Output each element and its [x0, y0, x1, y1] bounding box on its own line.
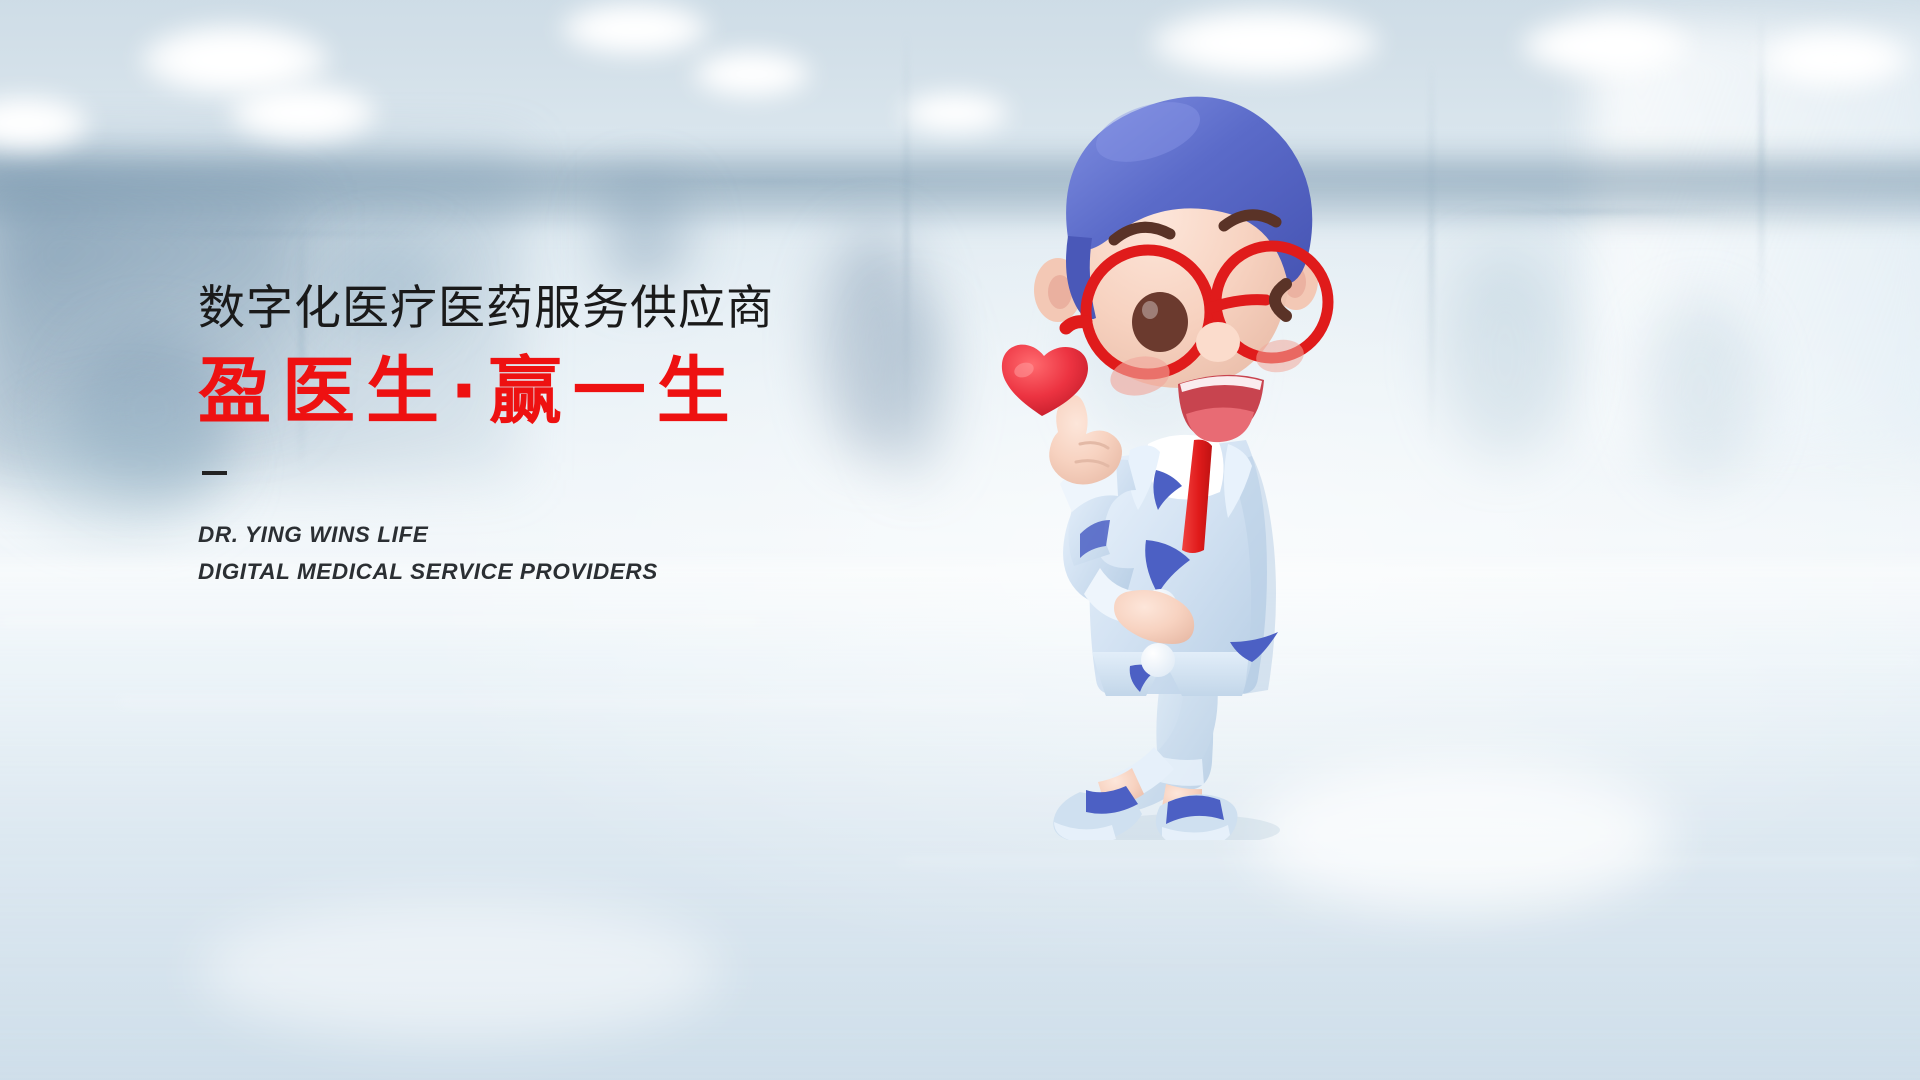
ceiling-light	[1520, 16, 1690, 76]
mascot-eye-open	[1132, 292, 1188, 352]
mascot-coat-button	[1141, 643, 1175, 677]
hero-banner: 数字化医疗医药服务供应商 盈医生·赢一生 DR. YING WINS LIFE …	[0, 0, 1920, 1080]
divider-rule	[202, 471, 227, 475]
mascot-eye-highlight	[1142, 301, 1158, 319]
window-rail	[60, 232, 440, 235]
window-rail	[1430, 210, 1730, 213]
ceiling-light	[692, 50, 812, 98]
hero-copy: 数字化医疗医药服务供应商 盈医生·赢一生 DR. YING WINS LIFE …	[198, 283, 774, 590]
english-subtitle-block: DR. YING WINS LIFE DIGITAL MEDICAL SERVI…	[198, 517, 774, 590]
ceiling-light	[228, 84, 378, 142]
english-line-2: DIGITAL MEDICAL SERVICE PROVIDERS	[198, 554, 774, 591]
background-blob-figure	[1440, 250, 1570, 460]
headline-subtitle: 数字化医疗医药服务供应商	[198, 283, 774, 336]
floor-reflection	[120, 700, 1020, 703]
mascot-nose	[1196, 322, 1240, 362]
background-blob-figure	[1640, 300, 1760, 480]
floor-reflection	[0, 620, 760, 623]
mascot-hand-raised	[1049, 395, 1122, 484]
ceiling-light	[560, 2, 710, 56]
english-line-1: DR. YING WINS LIFE	[198, 517, 774, 554]
mascot-leg-cuff	[1156, 756, 1204, 786]
background-blob-figure	[600, 180, 690, 290]
floor-glow	[200, 900, 720, 1040]
ceiling-light	[1760, 30, 1910, 88]
window-mullion	[1430, 60, 1433, 450]
headline-main: 盈医生·赢一生	[198, 350, 774, 433]
cartoon-doctor-mascot	[980, 40, 1400, 840]
background-blob-figure	[880, 300, 950, 480]
